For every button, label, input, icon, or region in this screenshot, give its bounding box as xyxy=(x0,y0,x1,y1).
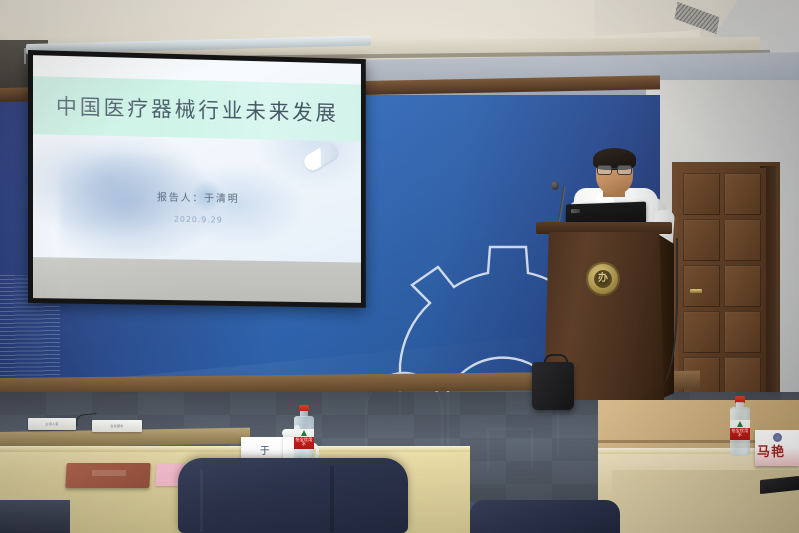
projection-screen: 中国医疗器械行业未来发展 报告人：于清明 2020.9.29 xyxy=(28,50,366,308)
eyeglasses-icon xyxy=(597,165,632,173)
briefcase xyxy=(532,362,574,410)
name-card-right-text: 马艳 xyxy=(757,441,785,460)
foreground-chair[interactable] xyxy=(178,458,408,533)
bottle-label-mark-icon xyxy=(301,430,307,436)
door-panel xyxy=(724,265,761,307)
foreground-shadow-gap xyxy=(0,500,70,533)
slide-title-band: 中国医疗器械行业未来发展 xyxy=(33,76,361,142)
door-panel xyxy=(724,173,761,215)
name-card-right: 马艳 xyxy=(755,430,799,466)
slide-title: 中国医疗器械行业未来发展 xyxy=(33,90,361,128)
ledge-name-card: 会务服务 xyxy=(92,420,142,432)
name-card-left-text: 于 xyxy=(260,442,271,457)
water-bottle[interactable]: 怡宝饮用水 xyxy=(294,405,314,465)
wooden-door[interactable] xyxy=(678,168,766,404)
door-panel xyxy=(683,311,720,353)
ledge-name-card: 主持人席 xyxy=(28,418,76,430)
bottle-label: 怡宝饮用水 xyxy=(730,420,750,440)
presentation-slide: 中国医疗器械行业未来发展 报告人：于清明 2020.9.29 xyxy=(33,55,361,303)
chair-fabric-fold xyxy=(200,470,203,532)
podium-emblem-glyph: 办 xyxy=(594,270,612,288)
slide-bottom-bar xyxy=(33,257,361,303)
door-handle[interactable] xyxy=(690,289,702,293)
front-desk-edge xyxy=(0,446,470,452)
water-bottle[interactable]: 怡宝饮用水 xyxy=(730,396,750,456)
microphone-icon xyxy=(551,181,559,190)
bottle-label-text: 怡宝饮用水 xyxy=(730,429,750,437)
chair-fabric-fold xyxy=(330,466,334,532)
screen-cable xyxy=(24,48,26,64)
foreground-chair[interactable] xyxy=(470,500,620,533)
table-microphone-icon xyxy=(75,413,97,426)
bottle-label-text: 怡宝饮用水 xyxy=(294,438,314,446)
laptop-logo xyxy=(571,209,580,213)
door-panel xyxy=(683,265,720,307)
bottle-label: 怡宝饮用水 xyxy=(294,429,314,449)
folder-emboss xyxy=(92,470,126,476)
door-panel xyxy=(683,219,720,261)
door-panel xyxy=(724,219,761,261)
conference-hall-photo: 中国医疗器械行业未来发展 报告人：于清明 2020.9.29 xyxy=(0,0,799,533)
eyeglass-lens-right xyxy=(617,165,632,175)
eyeglass-lens-left xyxy=(597,165,612,175)
door-panel xyxy=(683,173,720,215)
podium-emblem-icon: 办 xyxy=(586,262,620,296)
bottle-label-mark-icon xyxy=(737,421,743,427)
door-panel xyxy=(724,311,761,353)
